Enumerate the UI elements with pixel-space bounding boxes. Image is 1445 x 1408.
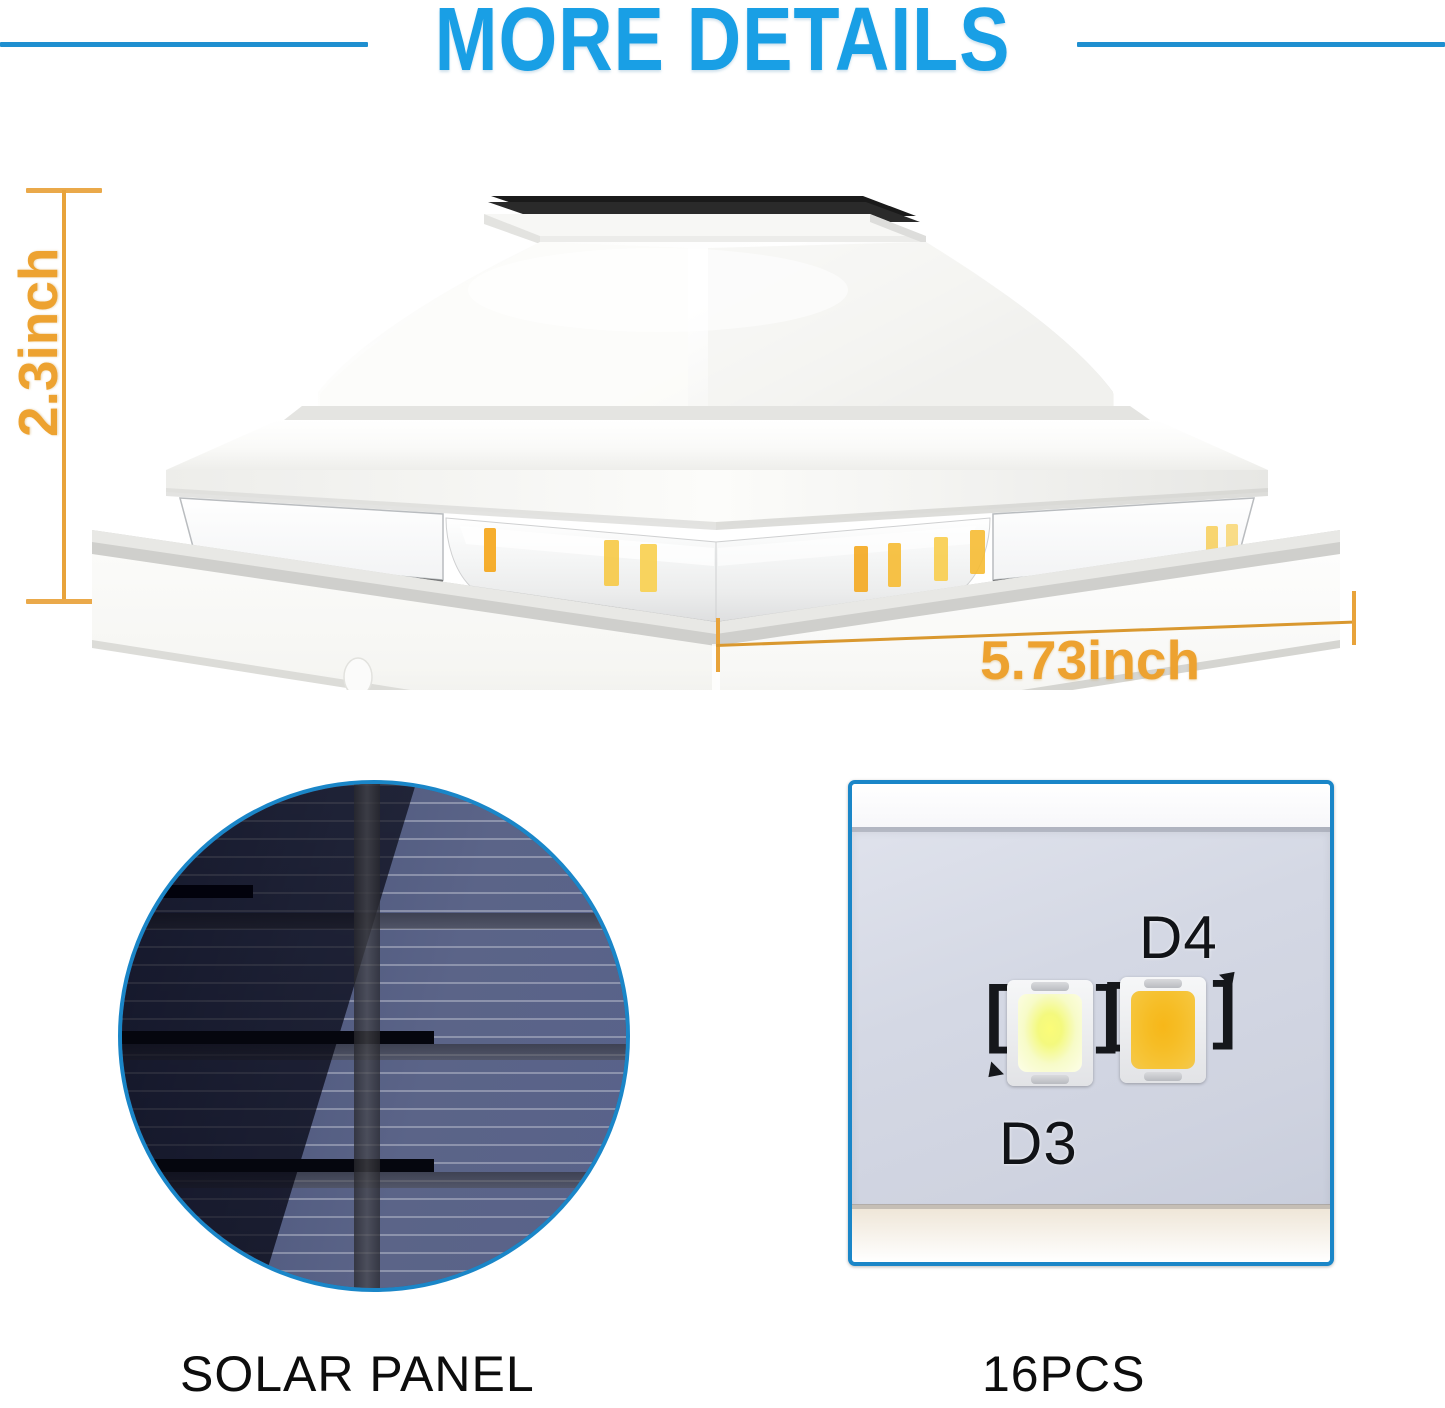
height-dimension-label: 2.3inch — [6, 257, 70, 437]
led-board-background-bottom — [852, 1209, 1330, 1262]
product-hero: 2.3inch — [0, 150, 1445, 750]
width-dimension-cap-right — [1352, 591, 1356, 645]
header-banner: MORE DETAILS — [0, 0, 1445, 110]
led-count-caption: 16PCS — [982, 1345, 1145, 1403]
led-contact-bottom — [1031, 1075, 1069, 1084]
led-silkscreen-label-d4: D4 — [1139, 908, 1218, 968]
led-board-background-top — [852, 784, 1330, 827]
led-chip-cool-white — [1007, 980, 1093, 1086]
led-pcb-top-edge — [852, 827, 1330, 832]
post-cap-light-illustration — [88, 170, 1358, 690]
led-contact-top — [1031, 982, 1069, 991]
infographic-stage: MORE DETAILS 2.3inch — [0, 0, 1445, 1408]
led-chip-warm-white — [1120, 977, 1206, 1083]
solar-panel-detail-circle — [118, 780, 630, 1292]
solar-panel-caption: SOLAR PANEL — [180, 1345, 535, 1403]
width-dimension-label: 5.73inch — [980, 628, 1200, 692]
led-die-cool-white — [1018, 994, 1082, 1072]
led-bracket-left-d3: [ — [985, 976, 1010, 1050]
led-detail-circle: [ ] [ ] D3 D4 — [848, 780, 1334, 1266]
led-silkscreen-label-d3: D3 — [999, 1114, 1078, 1174]
page-title: MORE DETAILS — [116, 0, 1330, 88]
solar-panel-busbar-vertical — [354, 784, 380, 1288]
led-contact-bottom — [1144, 1072, 1182, 1081]
solar-panel-dark-row-low — [122, 1159, 434, 1172]
led-contact-top — [1144, 979, 1182, 988]
led-die-warm-white — [1131, 991, 1195, 1069]
solar-panel-dark-row-mid — [122, 1031, 434, 1044]
